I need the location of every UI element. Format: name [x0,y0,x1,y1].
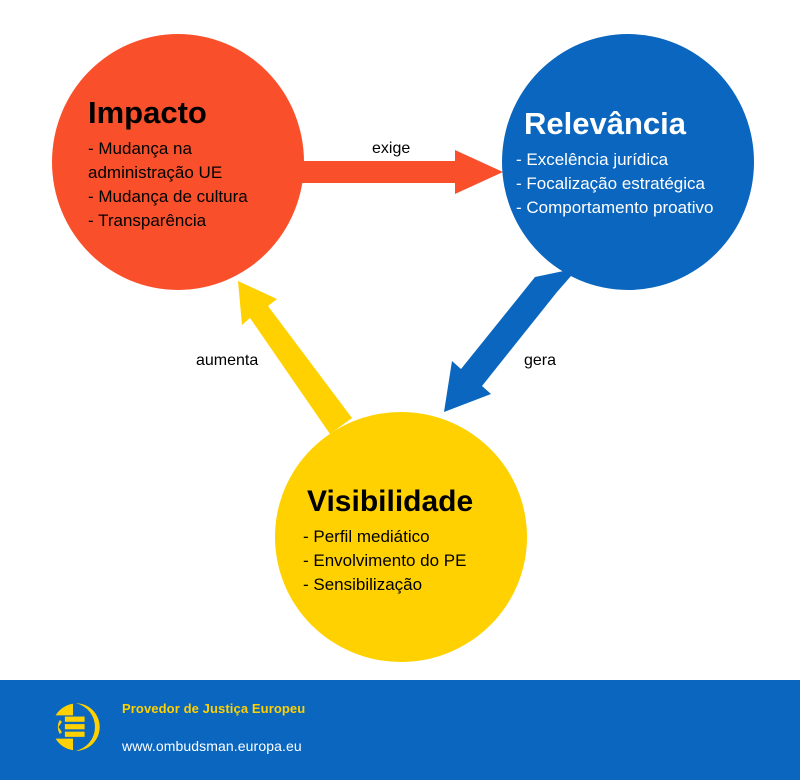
node-visibilidade-content: Visibilidade - Perfil mediático - Envolv… [275,412,527,662]
list-item: - Envolvimento do PE [303,549,466,573]
edge-label-gera: gera [524,352,556,370]
node-impacto-list: - Mudança na administração UE - Mudança … [88,137,248,234]
list-item: - Transparência [88,209,248,233]
european-ombudsman-logo-icon [44,698,102,756]
node-relevancia-content: Relevância - Excelência jurídica - Focal… [502,34,754,290]
node-impacto-title: Impacto [88,96,207,131]
list-item: - Focalização estratégica [516,172,713,196]
list-item: - Mudança na [88,137,248,161]
footer-band [0,680,800,780]
list-item: - Excelência jurídica [516,148,713,172]
footer-website-url[interactable]: www.ombudsman.europa.eu [122,738,302,754]
node-impacto[interactable]: Impacto - Mudança na administração UE - … [52,34,304,290]
edge-label-aumenta: aumenta [196,352,258,370]
node-visibilidade-list: - Perfil mediático - Envolvimento do PE … [303,525,466,597]
list-item: - Mudança de cultura [88,185,248,209]
edge-label-exige: exige [372,140,410,158]
list-item: - Sensibilização [303,573,466,597]
node-relevancia-list: - Excelência jurídica - Focalização estr… [516,148,713,220]
node-visibilidade[interactable]: Visibilidade - Perfil mediático - Envolv… [275,412,527,662]
list-item: - Comportamento proativo [516,196,713,220]
node-visibilidade-title: Visibilidade [303,485,473,519]
node-impacto-content: Impacto - Mudança na administração UE - … [52,34,304,290]
footer-organisation-name: Provedor de Justiça Europeu [122,701,305,716]
list-item: - Perfil mediático [303,525,466,549]
diagram-page: Impacto - Mudança na administração UE - … [0,0,800,780]
node-relevancia[interactable]: Relevância - Excelência jurídica - Focal… [502,34,754,290]
list-item: administração UE [88,161,248,185]
node-relevancia-title: Relevância [516,107,686,142]
diagram-canvas: Impacto - Mudança na administração UE - … [0,0,800,680]
